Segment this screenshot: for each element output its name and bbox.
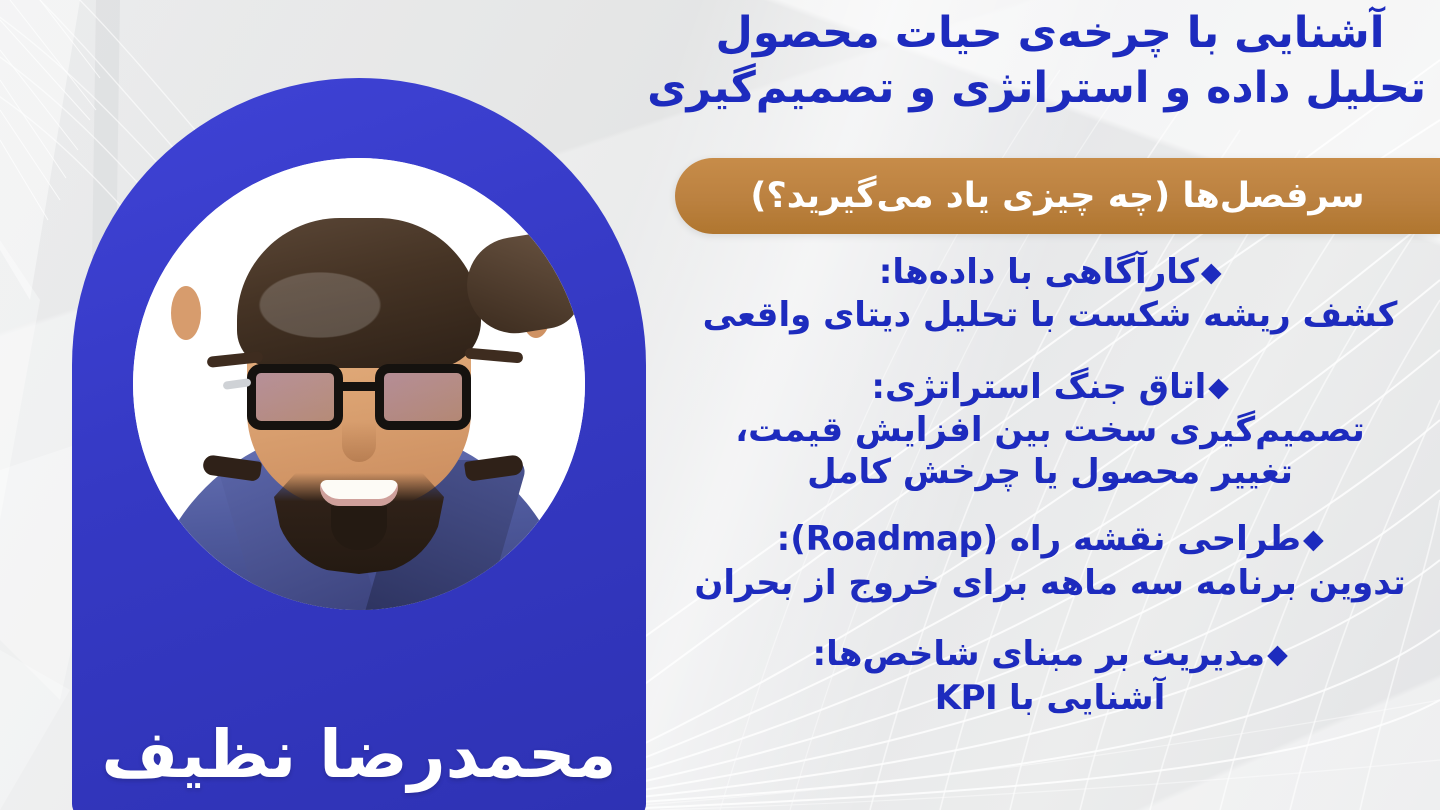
topic-heading: ◆مدیریت بر مبنای شاخص‌ها: bbox=[670, 634, 1430, 675]
diamond-bullet-icon: ◆ bbox=[1208, 372, 1228, 405]
topic-heading: ◆طراحی نقشه راه (Roadmap): bbox=[670, 519, 1430, 560]
topic-body-line: کشف ریشه شکست با تحلیل دیتای واقعی bbox=[670, 295, 1430, 336]
topic-body-line: آشنایی با KPI bbox=[670, 678, 1430, 719]
topic-heading: ◆کارآگاهی با داده‌ها: bbox=[670, 252, 1430, 293]
topic-body: تدوین برنامه سه ماهه برای خروج از بحران bbox=[670, 563, 1430, 604]
page-title-line-1: آشنایی با چرخه‌ی حیات محصول bbox=[674, 6, 1426, 61]
speaker-portrait-image bbox=[133, 158, 585, 610]
page-title: آشنایی با چرخه‌ی حیات محصول تحلیل داده و… bbox=[660, 6, 1440, 116]
topic-heading: ◆اتاق جنگ استراتژی: bbox=[670, 367, 1430, 408]
glasses-lens-left bbox=[247, 364, 343, 430]
topic-heading-text: کارآگاهی با داده‌ها: bbox=[879, 252, 1199, 292]
portrait-glasses-icon bbox=[245, 364, 473, 434]
portrait-eyebrow-right bbox=[465, 347, 524, 363]
content-column: آشنایی با چرخه‌ی حیات محصول تحلیل داده و… bbox=[660, 0, 1440, 810]
speaker-name: محمدرضا نظیف bbox=[72, 722, 646, 788]
topic-heading-text: اتاق جنگ استراتژی: bbox=[871, 367, 1206, 407]
diamond-bullet-icon: ◆ bbox=[1267, 639, 1287, 672]
topic-body: آشنایی با KPI bbox=[670, 678, 1430, 719]
topics-list: ◆کارآگاهی با داده‌ها: کشف ریشه شکست با ت… bbox=[660, 252, 1440, 719]
topic-heading-text: طراحی نقشه راه (Roadmap): bbox=[777, 519, 1301, 559]
topic-body: کشف ریشه شکست با تحلیل دیتای واقعی bbox=[670, 295, 1430, 336]
slide-canvas: محمدرضا نظیف آشنایی با چرخه‌ی حیات محصول… bbox=[0, 0, 1440, 810]
page-title-line-2: تحلیل داده و استراتژی و تصمیم‌گیری bbox=[674, 61, 1426, 116]
speaker-card: محمدرضا نظیف bbox=[72, 78, 646, 810]
topic-body: تصمیم‌گیری سخت بین افزایش قیمت، تغییر مح… bbox=[670, 410, 1430, 493]
diamond-bullet-icon: ◆ bbox=[1201, 257, 1221, 290]
list-item: ◆مدیریت بر مبنای شاخص‌ها: آشنایی با KPI bbox=[670, 634, 1430, 719]
topic-heading-text: مدیریت بر مبنای شاخص‌ها: bbox=[813, 634, 1266, 674]
topic-body-line: تصمیم‌گیری سخت بین افزایش قیمت، bbox=[670, 410, 1430, 451]
diamond-bullet-icon: ◆ bbox=[1303, 524, 1323, 557]
portrait-ear-left bbox=[171, 286, 201, 340]
glasses-lens-right bbox=[375, 364, 471, 430]
portrait-smile bbox=[320, 480, 398, 506]
list-item: ◆طراحی نقشه راه (Roadmap): تدوین برنامه … bbox=[670, 519, 1430, 604]
glasses-bridge bbox=[339, 382, 379, 391]
topic-body-line: تغییر محصول یا چرخش کامل bbox=[670, 452, 1430, 493]
list-item: ◆کارآگاهی با داده‌ها: کشف ریشه شکست با ت… bbox=[670, 252, 1430, 337]
section-banner: سرفصل‌ها (چه چیزی یاد می‌گیرید؟) bbox=[675, 158, 1440, 234]
topic-body-line: تدوین برنامه سه ماهه برای خروج از بحران bbox=[670, 563, 1430, 604]
portrait-hair bbox=[237, 218, 481, 368]
speaker-photo-frame bbox=[133, 158, 585, 610]
list-item: ◆اتاق جنگ استراتژی: تصمیم‌گیری سخت بین ا… bbox=[670, 367, 1430, 493]
